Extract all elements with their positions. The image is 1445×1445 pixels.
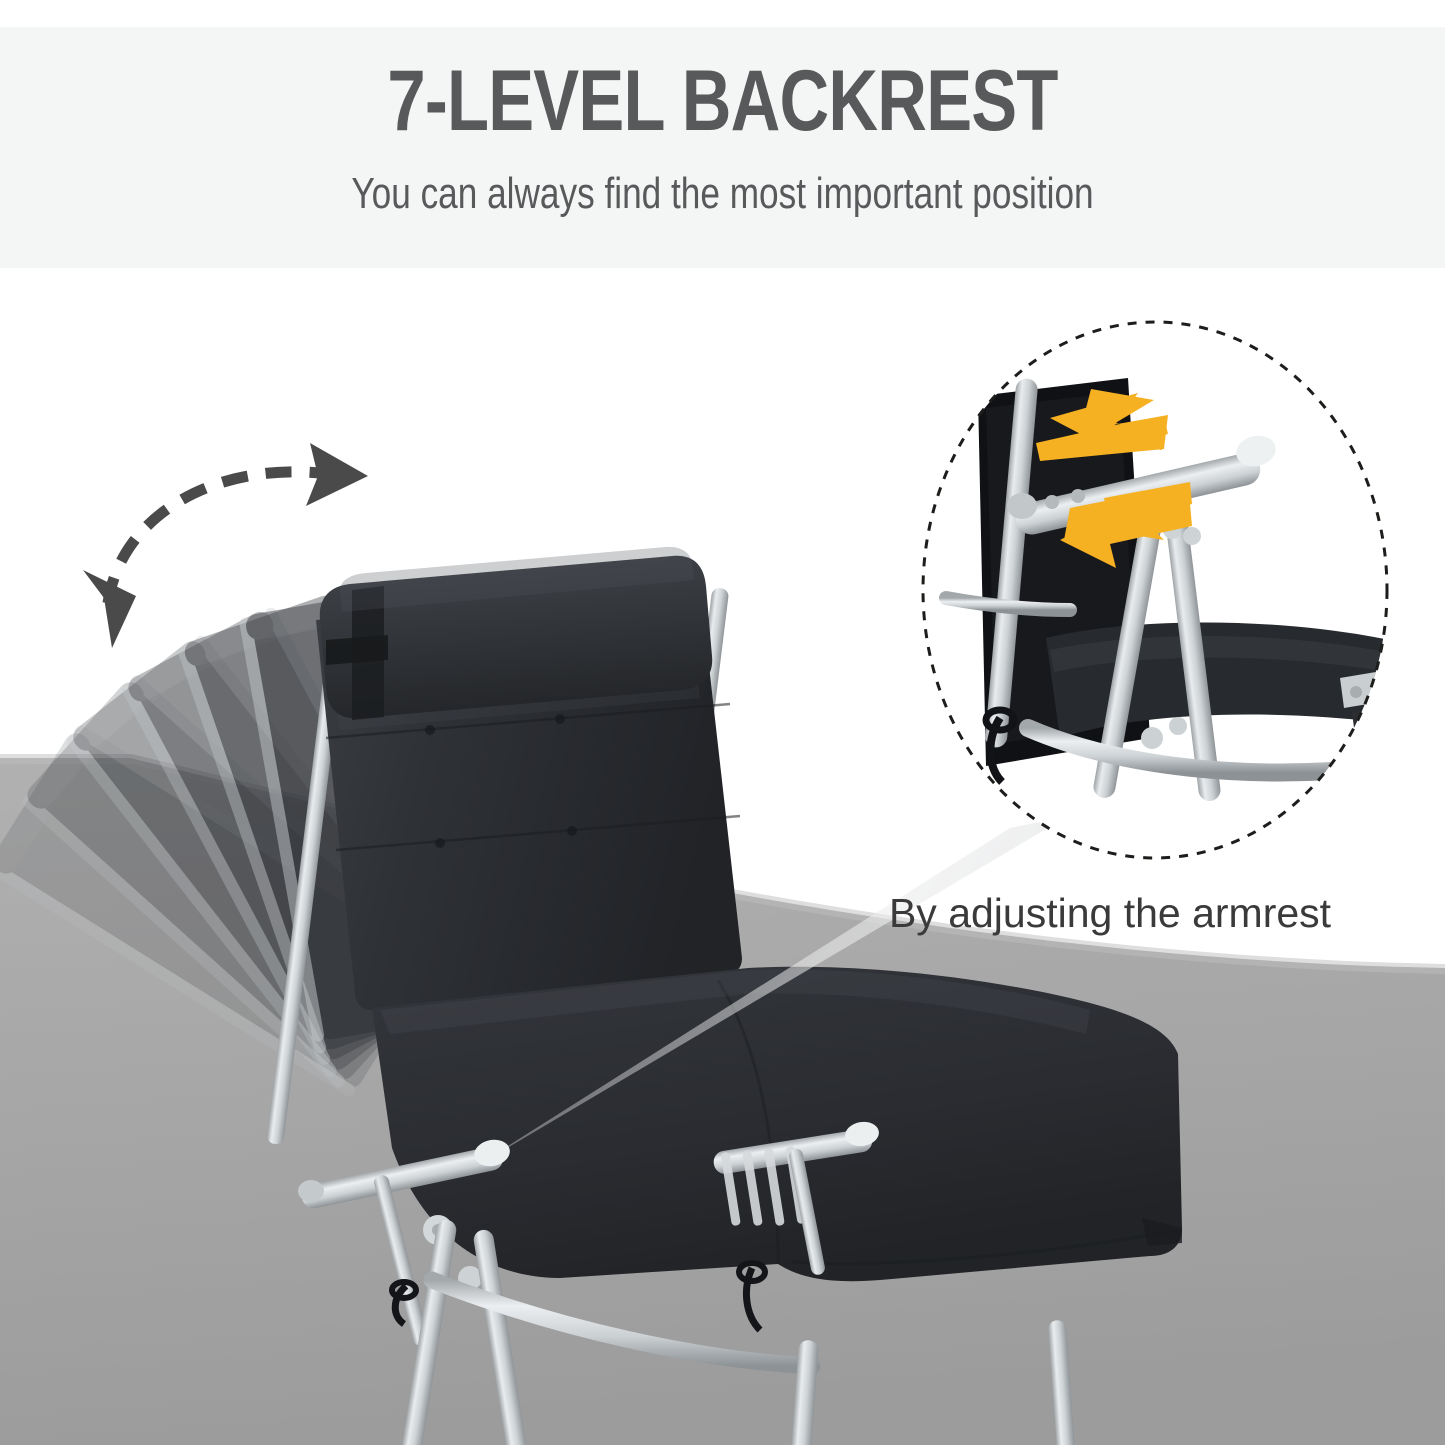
- seat-footrest-cushion: [372, 967, 1182, 1281]
- page-subtitle: You can always find the most important p…: [145, 170, 1301, 218]
- infographic-canvas: 7-LEVEL BACKREST You can always find the…: [0, 0, 1445, 1445]
- inset-caption: By adjusting the armrest: [830, 890, 1390, 937]
- product-scene: [0, 268, 1445, 1445]
- armrest-detail-inset: [900, 308, 1420, 888]
- page-title: 7-LEVEL BACKREST: [145, 58, 1301, 144]
